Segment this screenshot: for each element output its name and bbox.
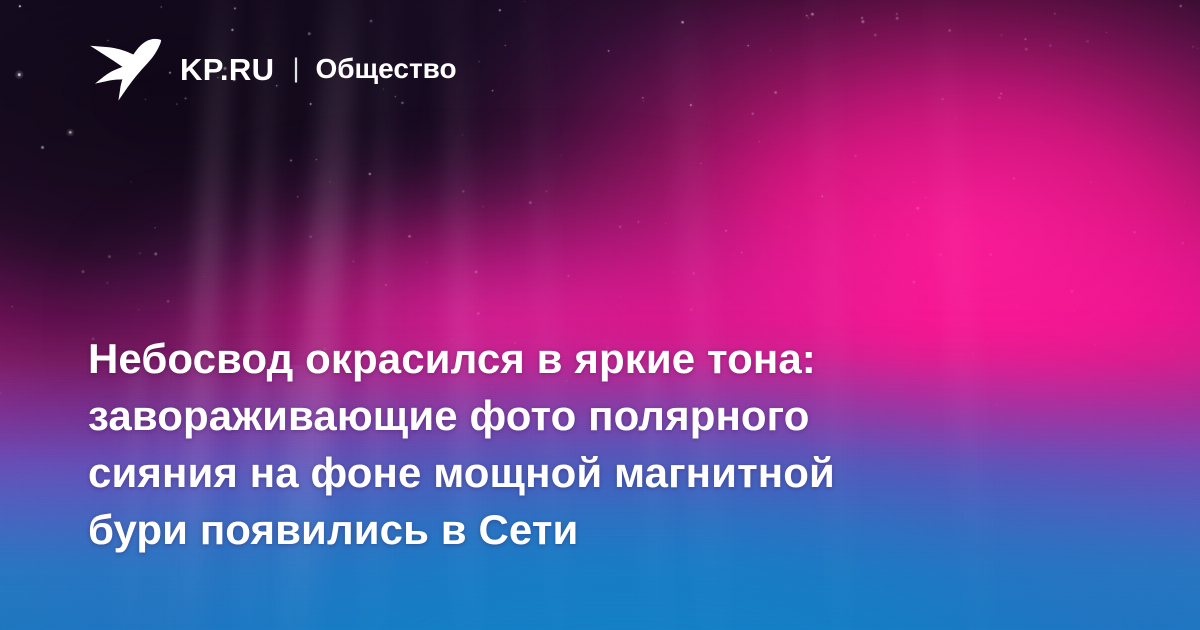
headline-line: Небосвод окрасился в яркие тона: bbox=[88, 330, 988, 387]
share-card: KP.RU | Общество Небосвод окрасился в яр… bbox=[0, 0, 1200, 630]
headline-line: сияния на фоне мощной магнитной bbox=[88, 444, 988, 501]
headline-line: бури появились в Сети bbox=[88, 501, 988, 558]
headline-line: завораживающие фото полярного bbox=[88, 387, 988, 444]
brand-separator: | bbox=[292, 55, 299, 82]
card-content: KP.RU | Общество Небосвод окрасился в яр… bbox=[0, 0, 1200, 630]
swallow-bird-logo-icon[interactable] bbox=[88, 37, 162, 101]
brand-name: KP.RU bbox=[180, 54, 274, 85]
brand-bar[interactable]: KP.RU | Общество bbox=[88, 36, 457, 102]
rubric-label[interactable]: Общество bbox=[315, 55, 456, 83]
headline: Небосвод окрасился в яркие тона: завораж… bbox=[88, 330, 988, 558]
